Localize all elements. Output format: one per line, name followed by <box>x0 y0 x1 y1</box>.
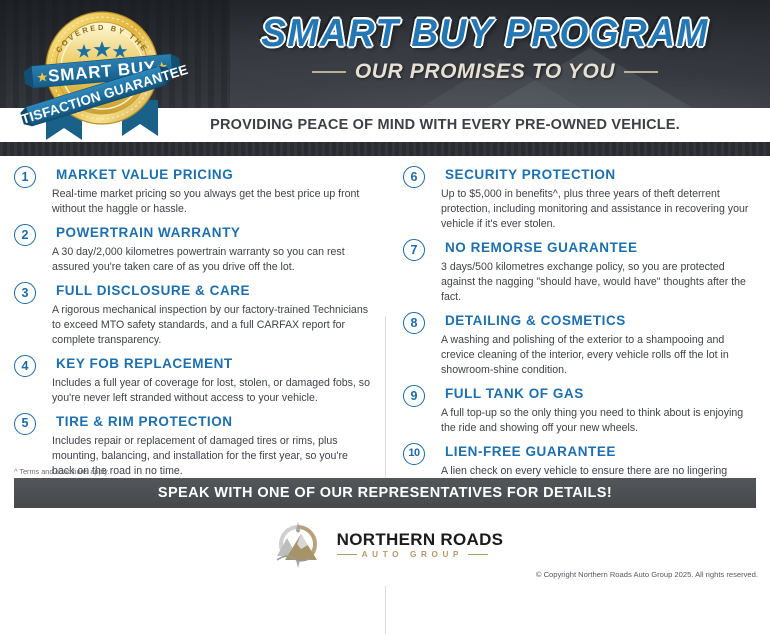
promise-body: A washing and polishing of the exterior … <box>441 333 756 378</box>
subtitle-rule-right <box>624 71 658 73</box>
promise-item: 7 NO REMORSE GUARANTEE 3 days/500 kilome… <box>403 241 756 305</box>
promise-item: 4 KEY FOB REPLACEMENT Includes a full ye… <box>14 357 371 406</box>
promise-number-badge: 10 <box>403 443 425 465</box>
brand-subtitle: AUTO GROUP <box>362 551 463 559</box>
brand-name: NORTHERN ROADS <box>337 531 504 548</box>
call-to-action-text: SPEAK WITH ONE OF OUR REPRESENTATIVES FO… <box>158 485 612 501</box>
promise-number-badge: 8 <box>403 312 425 334</box>
promise-title: LIEN-FREE GUARANTEE <box>445 445 756 460</box>
promise-number-badge: 5 <box>14 413 36 435</box>
promise-item: 3 FULL DISCLOSURE & CARE A rigorous mech… <box>14 284 371 348</box>
promise-title: KEY FOB REPLACEMENT <box>56 357 371 372</box>
promises-content: 1 MARKET VALUE PRICING Real-time market … <box>0 156 770 478</box>
promise-item: 6 SECURITY PROTECTION Up to $5,000 in be… <box>403 168 756 232</box>
promise-number-badge: 7 <box>403 239 425 261</box>
promise-item: 9 FULL TANK OF GAS A full top-up so the … <box>403 387 756 436</box>
call-to-action-bar[interactable]: SPEAK WITH ONE OF OUR REPRESENTATIVES FO… <box>14 478 756 508</box>
promise-body: Up to $5,000 in benefits^, plus three ye… <box>441 187 756 232</box>
promise-number-badge: 3 <box>14 282 36 304</box>
terms-and-conditions-note: ^ Terms and conditions apply. <box>14 467 109 476</box>
promise-number-badge: 6 <box>403 166 425 188</box>
subtitle-rule-left <box>312 71 346 73</box>
promise-body: A full top-up so the only thing you need… <box>441 406 756 436</box>
brand-subtitle-row: AUTO GROUP <box>337 551 504 559</box>
promises-column-left: 1 MARKET VALUE PRICING Real-time market … <box>14 166 385 478</box>
promise-item: 1 MARKET VALUE PRICING Real-time market … <box>14 168 371 217</box>
promises-column-right: 6 SECURITY PROTECTION Up to $5,000 in be… <box>385 166 756 478</box>
promise-number-badge: 2 <box>14 224 36 246</box>
page-subtitle: OUR PROMISES TO YOU <box>355 60 615 84</box>
promise-title: DETAILING & COSMETICS <box>445 314 756 329</box>
page-title: SMART BUY PROGRAM <box>200 13 770 52</box>
brand-lockup: NORTHERN ROADS AUTO GROUP <box>0 522 770 568</box>
promise-body: 3 days/500 kilometres exchange policy, s… <box>441 260 756 305</box>
promise-item: 2 POWERTRAIN WARRANTY A 30 day/2,000 kil… <box>14 226 371 275</box>
promise-body: A 30 day/2,000 kilometres powertrain war… <box>52 245 371 275</box>
northern-roads-mountain-compass-logo <box>267 522 329 568</box>
brand-dash-left <box>337 554 357 555</box>
promise-title: FULL DISCLOSURE & CARE <box>56 284 371 299</box>
smart-buy-satisfaction-guarantee-seal: COVERED BY THE SMART BUY <box>14 4 204 144</box>
promise-title: TIRE & RIM PROTECTION <box>56 415 371 430</box>
promise-title: FULL TANK OF GAS <box>445 387 756 402</box>
promise-title: MARKET VALUE PRICING <box>56 168 371 183</box>
header-title-block: SMART BUY PROGRAM OUR PROMISES TO YOU <box>200 14 770 84</box>
promise-body: A rigorous mechanical inspection by our … <box>52 303 371 348</box>
page-subtitle-row: OUR PROMISES TO YOU <box>200 60 770 84</box>
promise-title: NO REMORSE GUARANTEE <box>445 241 756 256</box>
smart-buy-program-page: SMART BUY PROGRAM OUR PROMISES TO YOU <box>0 0 770 578</box>
promise-title: POWERTRAIN WARRANTY <box>56 226 371 241</box>
header-divider-strip <box>0 142 770 156</box>
promise-title: SECURITY PROTECTION <box>445 168 756 183</box>
promise-body: Real-time market pricing so you always g… <box>52 187 371 217</box>
brand-dash-right <box>468 554 488 555</box>
page-footer: NORTHERN ROADS AUTO GROUP © Copyright No… <box>0 508 770 586</box>
promise-number-badge: 1 <box>14 166 36 188</box>
brand-text-block: NORTHERN ROADS AUTO GROUP <box>337 531 504 559</box>
promise-body: Includes a full year of coverage for los… <box>52 376 371 406</box>
promise-item: 8 DETAILING & COSMETICS A washing and po… <box>403 314 756 378</box>
promise-number-badge: 4 <box>14 355 36 377</box>
seal-graphic: COVERED BY THE SMART BUY <box>14 4 204 144</box>
promise-number-badge: 9 <box>403 385 425 407</box>
